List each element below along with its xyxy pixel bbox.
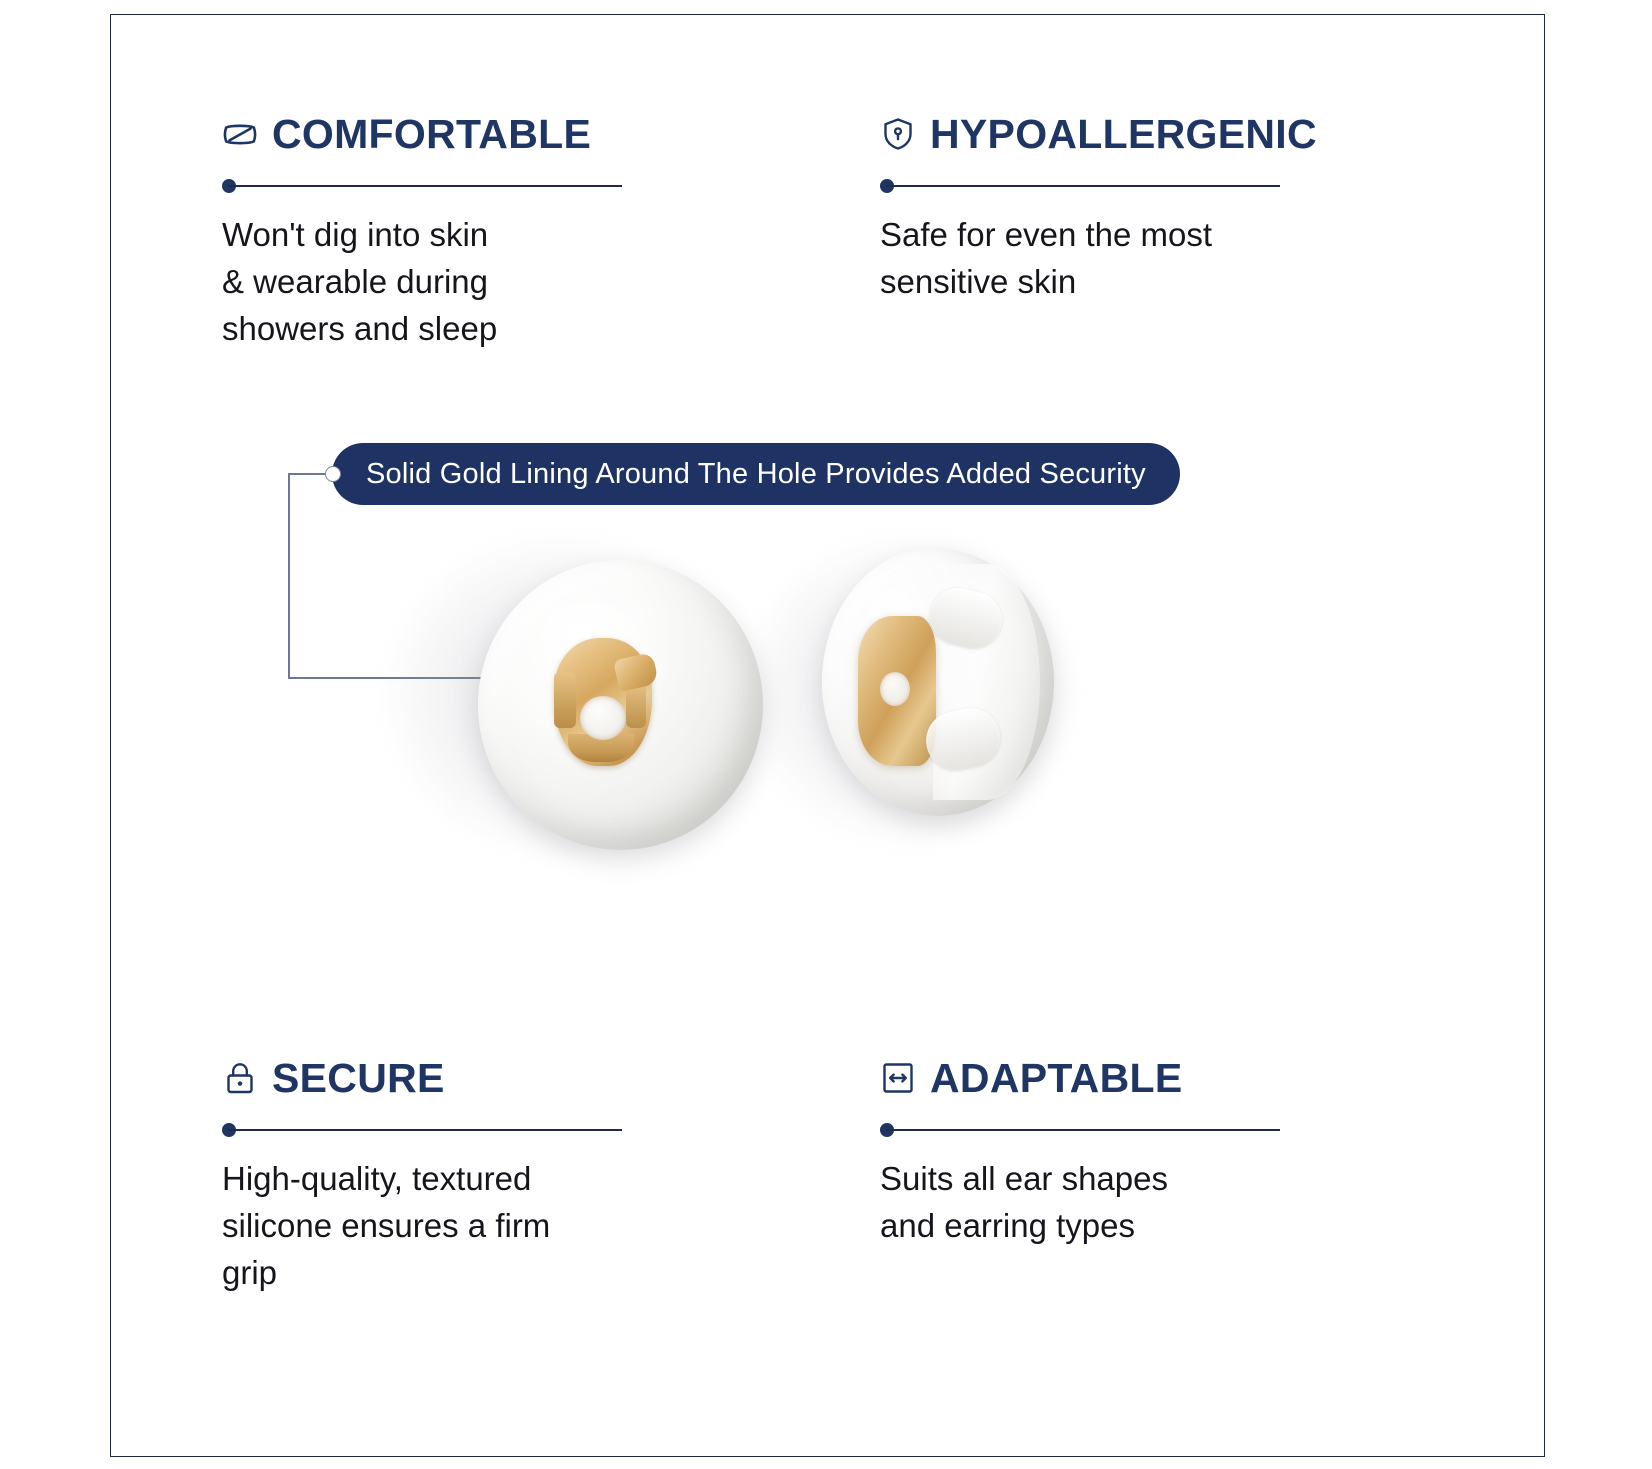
infographic-page: COMFORTABLE Won't dig into skin & wearab…: [0, 0, 1652, 1469]
feature-secure: SECURE High-quality, textured silicone e…: [222, 1052, 632, 1297]
body-line: Won't dig into skin: [222, 212, 622, 259]
body-line: silicone ensures a firm: [222, 1203, 622, 1250]
gold-hole: [580, 696, 626, 740]
body-line: grip: [222, 1250, 622, 1297]
feature-hypoallergenic-body: Safe for even the most sensitive skin: [880, 212, 1280, 306]
feature-adaptable-divider: [880, 1120, 1290, 1140]
body-line: sensitive skin: [880, 259, 1280, 306]
body-line: Suits all ear shapes: [880, 1156, 1280, 1203]
body-line: showers and sleep: [222, 306, 622, 353]
callout-anchor-dot: [325, 466, 341, 482]
product-photo: [370, 520, 1140, 920]
feature-secure-title: SECURE: [272, 1058, 445, 1099]
feature-hypoallergenic-divider: [880, 176, 1290, 196]
feature-secure-body: High-quality, textured silicone ensures …: [222, 1156, 622, 1297]
earring-back-side-view: [822, 548, 1054, 816]
feature-comfortable-body: Won't dig into skin & wearable during sh…: [222, 212, 622, 353]
gold-lining-front: [548, 638, 658, 766]
gold-tab: [613, 652, 659, 692]
gold-notch-left: [554, 672, 576, 728]
body-line: & wearable during: [222, 259, 622, 306]
feature-adaptable-body: Suits all ear shapes and earring types: [880, 1156, 1280, 1250]
feature-hypoallergenic-header: HYPOALLERGENIC: [880, 108, 1290, 160]
divider-line: [228, 185, 622, 187]
feature-secure-divider: [222, 1120, 632, 1140]
feature-comfortable-divider: [222, 176, 632, 196]
feature-hypoallergenic: HYPOALLERGENIC Safe for even the most se…: [880, 108, 1290, 306]
feature-comfortable-title: COMFORTABLE: [272, 114, 591, 155]
callout-leader-vertical-segment: [288, 474, 290, 678]
divider-line: [228, 1129, 622, 1131]
callout-text: Solid Gold Lining Around The Hole Provid…: [366, 460, 1146, 489]
body-line: High-quality, textured: [222, 1156, 622, 1203]
body-line: Safe for even the most: [880, 212, 1280, 259]
resize-horizontal-icon: [880, 1060, 916, 1096]
divider-line: [886, 1129, 1280, 1131]
callout-badge: Solid Gold Lining Around The Hole Provid…: [332, 443, 1180, 505]
feature-comfortable: COMFORTABLE Won't dig into skin & wearab…: [222, 108, 632, 353]
divider-line: [886, 185, 1280, 187]
padlock-icon: [222, 1060, 258, 1096]
feature-adaptable-title: ADAPTABLE: [930, 1058, 1182, 1099]
feature-adaptable: ADAPTABLE Suits all ear shapes and earri…: [880, 1052, 1290, 1250]
feature-hypoallergenic-title: HYPOALLERGENIC: [930, 114, 1317, 155]
body-line: and earring types: [880, 1203, 1280, 1250]
gold-lining-side: [858, 616, 936, 766]
feature-comfortable-header: COMFORTABLE: [222, 108, 632, 160]
feature-secure-header: SECURE: [222, 1052, 632, 1104]
feature-adaptable-header: ADAPTABLE: [880, 1052, 1290, 1104]
callout-leader-top-segment: [288, 473, 328, 475]
shield-lock-icon: [880, 116, 916, 152]
pillow-icon: [222, 116, 258, 152]
